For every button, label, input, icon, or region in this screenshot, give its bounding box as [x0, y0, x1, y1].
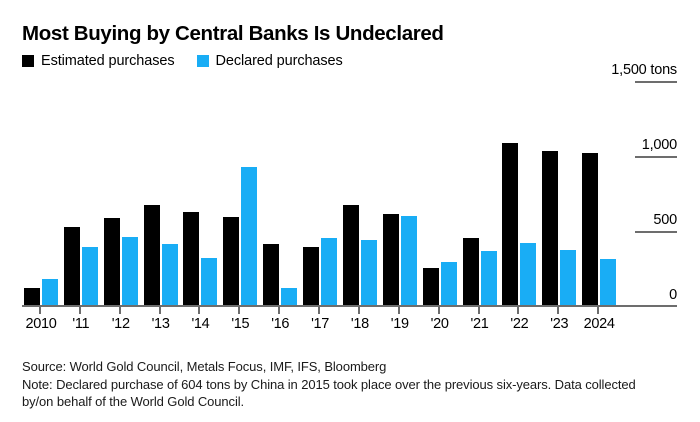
bar-declared[interactable] [481, 251, 497, 305]
x-axis-tick [517, 307, 519, 314]
bar-declared[interactable] [201, 258, 217, 305]
x-axis-tick [39, 307, 41, 314]
y-axis-tick-rule [635, 156, 677, 158]
bar-declared[interactable] [401, 216, 417, 305]
x-axis-tick [358, 307, 360, 314]
x-axis-tick [238, 307, 240, 314]
bar-estimated[interactable] [502, 143, 518, 305]
bar-declared[interactable] [281, 288, 297, 305]
bar-declared[interactable] [82, 247, 98, 305]
bar-declared[interactable] [441, 262, 457, 305]
bar-estimated[interactable] [343, 205, 359, 305]
bar-declared[interactable] [122, 237, 138, 305]
bar-estimated[interactable] [144, 205, 160, 306]
bar-estimated[interactable] [24, 288, 40, 305]
bar-declared[interactable] [42, 279, 58, 305]
x-axis-tick [557, 307, 559, 314]
square-swatch-icon [22, 55, 34, 67]
footer-note: Note: Declared purchase of 604 tons by C… [22, 376, 662, 411]
y-axis-tick-rule [635, 81, 677, 83]
bar-estimated[interactable] [223, 217, 239, 306]
x-axis-tick [278, 307, 280, 314]
bar-estimated[interactable] [582, 153, 598, 305]
bar-declared[interactable] [600, 259, 616, 306]
bar-estimated[interactable] [183, 212, 199, 305]
x-axis-tick [318, 307, 320, 314]
chart-footer: Source: World Gold Council, Metals Focus… [22, 358, 662, 411]
bar-declared[interactable] [162, 244, 178, 306]
x-axis-label: '20 [431, 316, 449, 332]
x-axis-labels: 2010'11'12'13'14'15'16'17'18'19'20'21'22… [22, 316, 620, 338]
bar-estimated[interactable] [423, 268, 439, 306]
y-axis-tick-rule [635, 231, 677, 233]
x-axis-label: '17 [311, 316, 329, 332]
x-axis-tick [119, 307, 121, 314]
legend-label-estimated: Estimated purchases [41, 53, 175, 69]
bar-estimated[interactable] [104, 218, 120, 305]
x-axis-label: 2010 [25, 316, 56, 332]
x-axis-tick [398, 307, 400, 314]
x-axis-label: '19 [391, 316, 409, 332]
footer-source: Source: World Gold Council, Metals Focus… [22, 358, 662, 376]
bar-declared[interactable] [361, 240, 377, 305]
x-axis-label: '14 [191, 316, 209, 332]
y-axis-tick-label: 1,500 tons [591, 63, 677, 78]
bar-declared[interactable] [560, 250, 576, 305]
x-axis-label: '23 [550, 316, 568, 332]
x-axis-label: '13 [152, 316, 170, 332]
bar-estimated[interactable] [463, 238, 479, 306]
x-axis-label: '15 [231, 316, 249, 332]
bar-estimated[interactable] [542, 151, 558, 306]
bar-declared[interactable] [241, 167, 257, 305]
x-axis-tick [159, 307, 161, 314]
x-axis-label: 2024 [584, 316, 615, 332]
plot-area: 05001,0001,500 tons [22, 80, 677, 312]
legend-item-declared[interactable]: Declared purchases [197, 53, 343, 69]
bar-estimated[interactable] [64, 227, 80, 305]
x-axis-tick [597, 307, 599, 314]
chart-legend: Estimated purchases Declared purchases [22, 53, 343, 69]
bar-groups [22, 80, 620, 305]
x-axis-label: '11 [72, 316, 89, 332]
x-axis-label: '22 [510, 316, 528, 332]
legend-label-declared: Declared purchases [216, 53, 343, 69]
x-axis-tick [198, 307, 200, 314]
bar-declared[interactable] [321, 238, 337, 306]
x-axis-tick [79, 307, 81, 314]
bar-estimated[interactable] [263, 244, 279, 306]
x-axis-tick [478, 307, 480, 314]
legend-item-estimated[interactable]: Estimated purchases [22, 53, 175, 69]
square-swatch-icon [197, 55, 209, 67]
x-axis-label: '21 [471, 316, 489, 332]
page-title: Most Buying by Central Banks Is Undeclar… [22, 22, 444, 46]
x-axis-tick [438, 307, 440, 314]
bar-estimated[interactable] [383, 214, 399, 306]
chart-page: Most Buying by Central Banks Is Undeclar… [0, 0, 700, 422]
bar-declared[interactable] [520, 243, 536, 305]
x-axis-label: '16 [271, 316, 289, 332]
x-axis-label: '18 [351, 316, 369, 332]
x-axis-label: '12 [112, 316, 130, 332]
bar-estimated[interactable] [303, 247, 319, 305]
